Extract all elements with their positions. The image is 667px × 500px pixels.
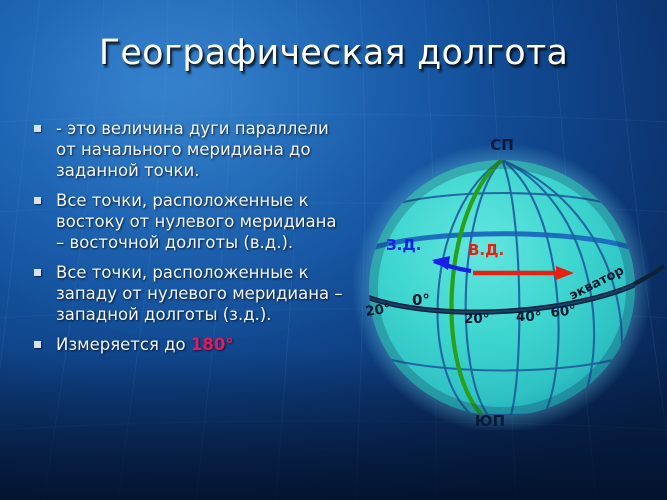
zero-degree-label: 0°: [412, 291, 430, 309]
list-item-label: Измеряется до 180°: [56, 334, 348, 355]
list-item: Измеряется до 180°: [30, 334, 348, 355]
bullet-square-icon: [34, 269, 41, 276]
south-pole-label: ЮП: [475, 412, 505, 430]
globe-longitude-diagram: СП ЮП З.Д. В.Д. 0° 20° 20° 40° 60° экват…: [338, 128, 667, 430]
bullet-list: - это величина дуги параллели от начальн…: [30, 118, 348, 364]
west-longitude-label: З.Д.: [386, 236, 421, 254]
list-item-label: Все точки, расположенные к востоку от ну…: [56, 190, 348, 253]
bullet-square-icon: [34, 197, 41, 204]
list-item: - это величина дуги параллели от начальн…: [30, 118, 348, 181]
east-40-degree-label: 40°: [516, 309, 542, 325]
east-60-degree-label: 60°: [550, 302, 577, 321]
list-item-text: Измеряется до: [56, 335, 191, 354]
bullet-square-icon: [34, 125, 41, 132]
east-20-degree-label: 20°: [464, 311, 490, 327]
list-item-label: - это величина дуги параллели от начальн…: [56, 118, 348, 181]
presentation-slide: Географическая долгота - это величина ду…: [0, 0, 667, 500]
list-item: Все точки, расположенные к востоку от ну…: [30, 190, 348, 253]
list-item: Все точки, расположенные к западу от нул…: [30, 262, 348, 325]
max-longitude-value: 180°: [191, 335, 234, 354]
east-longitude-label: В.Д.: [468, 241, 504, 259]
bullet-square-icon: [34, 341, 41, 348]
north-pole-label: СП: [490, 136, 514, 154]
list-item-label: Все точки, расположенные к западу от нул…: [56, 262, 348, 325]
page-title: Географическая долгота: [0, 33, 667, 73]
